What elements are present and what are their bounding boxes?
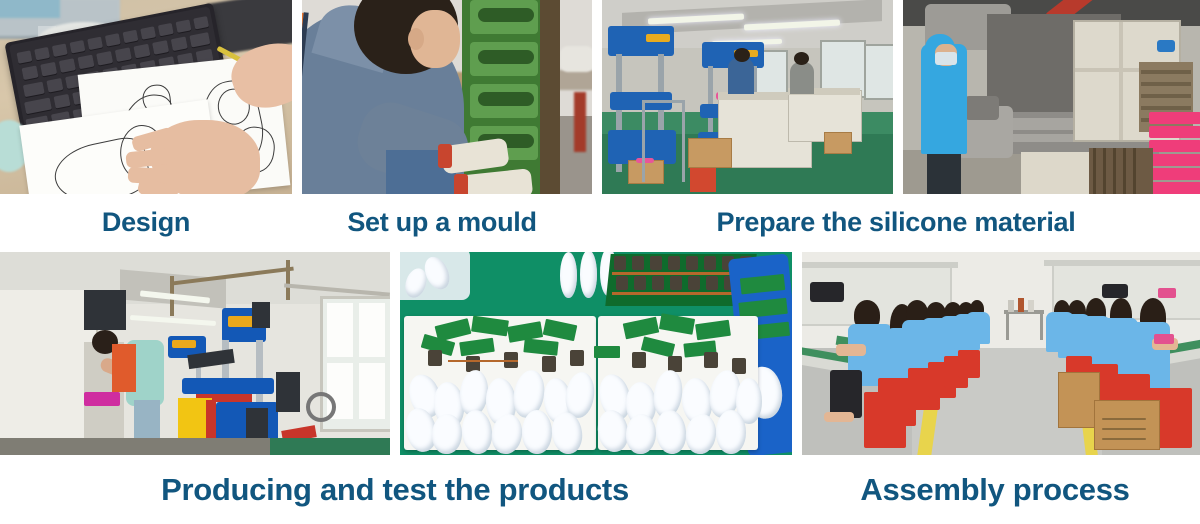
carton-label-line-2 (1102, 428, 1146, 430)
carton-2 (824, 132, 852, 154)
stool-left-6 (958, 350, 980, 378)
pink-tray-2 (1149, 126, 1200, 138)
glove-cuff-upper (438, 144, 452, 168)
white-cloth (560, 46, 592, 72)
photo-prepare-silicone-machine[interactable] (903, 0, 1200, 194)
press-platen (182, 378, 274, 394)
worker-left-1-foot (824, 412, 854, 422)
process-row-bottom: Producing and test the products Assembly… (0, 252, 1200, 524)
trolley-leg-1 (642, 100, 645, 182)
photo-prepare-silicone-workshop[interactable] (602, 0, 893, 194)
caption-assembly-process: Assembly process (790, 455, 1200, 524)
trolley-leg-2 (682, 100, 685, 182)
worker-left-1-hand (836, 344, 866, 356)
monitor-screen (0, 0, 60, 18)
hand-on-paper (150, 120, 260, 194)
control-box (276, 372, 300, 412)
worker-left-7-coat (966, 312, 990, 344)
green-floor-strip (270, 438, 390, 455)
photo-design[interactable] (0, 0, 292, 194)
bottle-1 (1008, 300, 1014, 312)
photo-set-up-a-mould[interactable] (302, 0, 592, 194)
carton-3 (628, 160, 664, 184)
dark-opening (84, 290, 126, 330)
red-post (574, 92, 586, 152)
photo-assembly-process[interactable] (802, 252, 1200, 455)
worker-right-5-coat (1046, 312, 1074, 352)
caption-producing-and-test-the-products: Producing and test the products (0, 455, 790, 524)
photo-producing-and-test[interactable] (0, 252, 390, 455)
glove-cuff-lower (454, 174, 468, 194)
press-label-1 (646, 34, 670, 42)
operator-face-mask (935, 52, 957, 65)
caption-design: Design (0, 194, 292, 250)
worker-1-head (734, 48, 750, 62)
pink-material-3 (636, 158, 654, 163)
supply-cart-leg-1 (1006, 314, 1009, 340)
pink-tray-3 (1149, 140, 1200, 152)
carton-label-line-1 (1102, 418, 1146, 420)
stacked-boards (1089, 148, 1153, 194)
pink-tray-1 (1149, 112, 1200, 124)
mould-side-plate (540, 0, 560, 194)
worker-ear (408, 28, 424, 50)
worker-2-head (794, 52, 809, 65)
operator-trousers (927, 150, 961, 194)
product-tray-left (404, 316, 596, 450)
window-2 (864, 44, 893, 100)
photo-strip-top (0, 0, 1200, 194)
caption-strip-bottom: Producing and test the products Assembly… (0, 455, 1200, 524)
caption-prepare-the-silicone-material: Prepare the silicone material (592, 194, 1200, 250)
process-steps-board: Design Set up a mould Prepare the silico… (0, 0, 1200, 524)
blue-device (1157, 40, 1175, 52)
carton-1 (688, 138, 732, 168)
mixer-head (965, 96, 999, 120)
product-tray-right (598, 316, 758, 450)
shelf-equipment-left (810, 282, 844, 302)
ceiling-beam-3 (286, 260, 290, 300)
trolley-handle (306, 392, 336, 422)
bottle-3 (1028, 300, 1034, 312)
press-label-2 (172, 340, 196, 348)
pink-tray-6 (1149, 182, 1200, 194)
shelf-equipment-right (1102, 284, 1128, 298)
worker-2-body (790, 62, 814, 94)
pink-parts-tray (84, 392, 120, 406)
worker-left-1-trousers (830, 370, 862, 418)
photo-strip-bottom (0, 252, 1200, 455)
red-stool (690, 168, 716, 192)
caption-set-up-a-mould: Set up a mould (292, 194, 592, 250)
press-motor (252, 302, 270, 328)
carton-label-line-3 (1102, 438, 1146, 440)
worker-right-1-part (1154, 334, 1174, 344)
orange-figure (112, 344, 136, 392)
worker-1-body (728, 58, 754, 94)
caption-strip-top: Design Set up a mould Prepare the silico… (0, 194, 1200, 250)
trolley-rail (642, 100, 684, 103)
pink-tray-4 (1149, 154, 1200, 166)
photo-products-trays[interactable] (400, 252, 792, 455)
pink-tray-5 (1149, 168, 1200, 180)
bottle-2 (1018, 298, 1024, 312)
shelf-pink-item (1158, 288, 1176, 298)
supply-cart-leg-2 (1040, 314, 1043, 340)
process-row-top: Design Set up a mould Prepare the silico… (0, 0, 1200, 250)
carton-right-2 (1094, 400, 1160, 450)
